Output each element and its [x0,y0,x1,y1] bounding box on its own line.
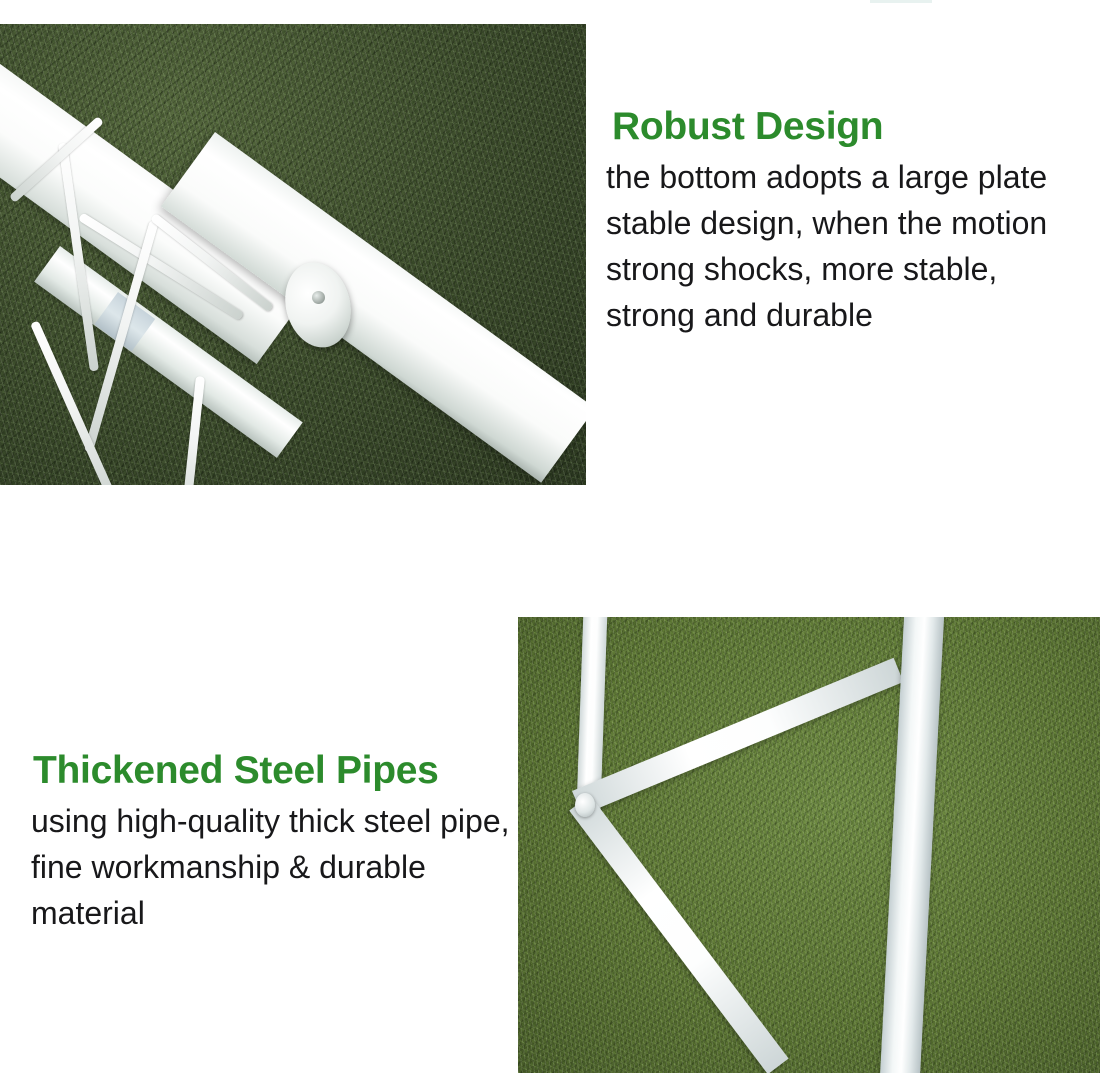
top-edge-artifact [870,0,932,3]
feature-body-thickened-steel-pipes: using high-quality thick steel pipe, fin… [31,798,511,936]
feature-heading-thickened-steel-pipes: Thickened Steel Pipes [33,748,511,794]
feature-block-robust-design: Robust Design the bottom adopts a large … [606,104,1076,338]
infographic-page: Robust Design the bottom adopts a large … [0,0,1100,1079]
feature-body-robust-design: the bottom adopts a large plate stable d… [606,154,1076,338]
photo-goal-corner-joint [0,24,586,485]
feature-block-thickened-steel-pipes: Thickened Steel Pipes using high-quality… [31,748,511,936]
feature-heading-robust-design: Robust Design [612,104,1076,150]
goal-frame-joint-knob [575,793,595,817]
base-plate-screw [312,291,325,304]
photo-goal-frame-legs [518,617,1100,1073]
